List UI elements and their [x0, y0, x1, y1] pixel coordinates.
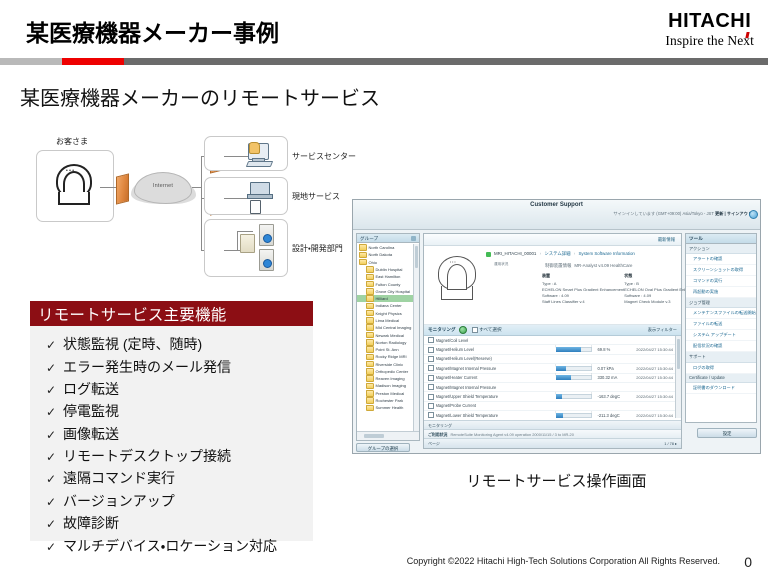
- features-list: ✓状態監視 (定時、随時) ✓エラー発生時のメール発信 ✓ログ転送 ✓停電監視 …: [30, 326, 313, 557]
- tree-item[interactable]: Summer Health: [357, 404, 419, 411]
- device-column-row: Staff Lines Classifier v.4: [542, 299, 624, 305]
- metric-name: Magnet/Magnet Internal Pressure: [436, 366, 556, 371]
- device-id-label: MRI_HITACHI_00001: [494, 251, 536, 256]
- tree-item[interactable]: Rocky Ridge MRI: [357, 353, 419, 360]
- feature-item: ✓リモートデスクトップ接続: [30, 445, 313, 467]
- metric-name: Magnet/Coil Level: [436, 338, 556, 343]
- tree-item-label: East Hamilton: [376, 274, 401, 279]
- table-row[interactable]: Magnet/Magnet Internal Pressure || 0.07 …: [424, 364, 681, 373]
- hitachi-logo: HITACHI Inspire the Next: [665, 11, 754, 49]
- server-beige-icon: [240, 234, 255, 253]
- folder-icon: [366, 295, 374, 302]
- divider-segment-red: [62, 58, 124, 65]
- metric-value: -163.7 degC: [598, 394, 621, 399]
- monitoring-scrollbar[interactable]: [675, 336, 681, 418]
- tools-menu-item[interactable]: 証明書のダウンロード: [686, 383, 756, 394]
- tree-scrollbar-thumb[interactable]: [415, 246, 419, 268]
- metric-bar: [556, 356, 592, 361]
- hitachi-wordmark: HITACHI: [665, 11, 754, 31]
- feature-item: ✓状態監視 (定時、随時): [30, 333, 313, 355]
- monitoring-status-text: RemoteSuite Monitoring Agent v4.09 opera…: [450, 432, 573, 437]
- tree-item-label: Grove City Hospital: [376, 289, 410, 294]
- checkbox-icon[interactable]: [428, 412, 434, 418]
- slide-header: 某医療機器メーカー事例 HITACHI Inspire the Next: [0, 0, 768, 58]
- folder-icon: [366, 310, 374, 317]
- device-column-row: ECHELON Smart Plus Gradient Enhancement: [542, 287, 624, 293]
- diagram-node-label-0: サービスセンター: [292, 151, 356, 162]
- group-select-button[interactable]: グループの選択: [356, 443, 410, 452]
- tools-group-title: ジョブ管理: [686, 298, 756, 308]
- check-icon: ✓: [46, 405, 63, 419]
- divider-segment-dark: [124, 58, 768, 65]
- latest-info-link[interactable]: 最新情報: [658, 237, 675, 243]
- pager-label: ページ: [428, 441, 440, 446]
- monitoring-table[interactable]: Magnet/Coil Level Magnet/Helium Level ||…: [424, 336, 681, 418]
- hitachi-tagline-text: Inspire the Next: [665, 33, 754, 48]
- tools-panel-header: ツール: [686, 234, 756, 244]
- table-row[interactable]: Magnet/Lower Shield Temperature || -211.…: [424, 411, 681, 418]
- tree-hscrollbar-thumb[interactable]: [364, 434, 384, 439]
- folder-icon: [366, 346, 374, 353]
- check-icon: ✓: [46, 517, 63, 531]
- diagram-wire-rnd-top: [237, 231, 253, 232]
- metric-timestamp: 2022/04/27 15:30:44: [636, 366, 673, 371]
- table-row[interactable]: Magnet/Coil Level: [424, 336, 681, 345]
- check-icon: ✓: [46, 338, 63, 352]
- tree-item-selected[interactable]: Hilliard: [357, 295, 419, 302]
- tree-item-label: North Dakota: [369, 252, 393, 257]
- metric-bar: ||: [556, 347, 592, 352]
- check-icon: ✓: [46, 361, 63, 375]
- feature-label: エラー発生時のメール発信: [63, 357, 231, 377]
- group-tree-panel: グループ North Carolina North Dakota Ohio Du…: [356, 233, 420, 441]
- folder-icon: [366, 375, 374, 382]
- tree-item[interactable]: Dublin Hospital: [357, 266, 419, 273]
- metric-timestamp: 2022/04/27 15:30:44: [636, 375, 673, 380]
- tree-item-label: Norton Radiology: [376, 340, 407, 345]
- device-columns: 装置 Type : A ECHELON Smart Plus Gradient …: [542, 273, 675, 305]
- metric-bar: ||: [556, 366, 592, 371]
- monitoring-scrollbar-thumb[interactable]: [677, 339, 681, 369]
- feature-label: 画像転送: [63, 424, 119, 444]
- device-column-title: 装置: [542, 273, 624, 279]
- metric-value: 69.8 %: [598, 347, 611, 352]
- feature-item: ✓故障診断: [30, 512, 313, 534]
- network-diagram: お客さま ••• Internet サービスセンター 現地サービス: [34, 136, 354, 286]
- tree-item-label: Summer Health: [376, 405, 404, 410]
- folder-icon: [366, 339, 374, 346]
- check-icon: ✓: [46, 540, 63, 554]
- metric-name: Magnet/Helium Level: [436, 347, 556, 352]
- tree-item[interactable]: Riverside Clinic: [357, 361, 419, 368]
- metric-name: Magnet/Probe Current: [436, 403, 556, 408]
- feature-item: ✓バージョンアップ: [30, 490, 313, 512]
- diagram-customer-label: お客さま: [56, 136, 88, 147]
- tree-item-label: Riverside Clinic: [376, 362, 404, 367]
- folder-icon: [366, 383, 374, 390]
- tree-item-label: Knight Physics: [376, 311, 402, 316]
- metric-bar: [556, 403, 592, 408]
- tree-item[interactable]: Fulton County: [357, 280, 419, 287]
- checkbox-icon[interactable]: [472, 327, 478, 333]
- tree-item[interactable]: Reaven Imaging: [357, 375, 419, 382]
- select-all-label: すべて選択: [479, 327, 501, 333]
- pin-icon[interactable]: [411, 236, 416, 241]
- tree-item-label: Point St. Ann: [376, 347, 399, 352]
- monitoring-status-row: ご利用状況RemoteSuite Monitoring Agent v4.09 …: [424, 429, 681, 438]
- features-panel-title: リモートサービス主要機能: [38, 303, 226, 325]
- checkbox-icon[interactable]: [428, 394, 434, 400]
- internet-cloud-label: Internet: [135, 183, 191, 189]
- tablet-icon: [250, 200, 261, 214]
- metric-value: -211.3 degC: [598, 413, 620, 418]
- tools-menu-item[interactable]: 再起動の実施: [686, 287, 756, 298]
- tree-item-label: Reaven Imaging: [376, 376, 405, 381]
- divider-segment-light: [0, 58, 62, 65]
- folder-icon: [359, 252, 367, 259]
- check-icon: ✓: [46, 472, 63, 486]
- metric-name: Magnet/Heater Current: [436, 375, 556, 380]
- tree-item[interactable]: Rochester Park: [357, 397, 419, 404]
- refresh-icon[interactable]: [459, 326, 467, 334]
- group-tree-title: グループ: [360, 236, 378, 241]
- metric-timestamp: 2022/04/27 15:30:44: [636, 394, 673, 399]
- tools-menu-item[interactable]: アラートの確認: [686, 254, 756, 265]
- tree-item-label: Dublin Hospital: [376, 267, 403, 272]
- tools-panel: ツール アクション アラートの確認 スクリーンショットの取得 コマンドの実行 再…: [685, 233, 757, 423]
- tools-menu-item[interactable]: 配信状況の確認: [686, 341, 756, 352]
- folder-icon: [366, 332, 374, 339]
- tools-settings-button[interactable]: 設定: [697, 428, 757, 438]
- app-topbar: Customer Support サインインしています (GMT+09:00) …: [353, 200, 760, 230]
- feature-label: 停電監視: [63, 401, 119, 421]
- tools-menu-item[interactable]: ファイルの転送: [686, 319, 756, 330]
- checkbox-icon[interactable]: [428, 347, 434, 353]
- pager-value[interactable]: 1 / 78 ▸: [664, 441, 677, 446]
- mri-scanner-icon: •••: [52, 164, 92, 206]
- device-detail-panel: ••• MRI_HITACHI_00001 › システム詳細 › System …: [424, 246, 681, 325]
- tools-menu-item[interactable]: ログの取得: [686, 363, 756, 374]
- tree-item[interactable]: Mid Central Imaging: [357, 324, 419, 331]
- tree-item[interactable]: Madison Imaging: [357, 382, 419, 389]
- globe-icon[interactable]: [749, 210, 758, 219]
- firewall-icon-customer: [116, 173, 129, 204]
- feature-item: ✓画像転送: [30, 423, 313, 445]
- tools-menu-item[interactable]: メンテナンスファイルの転送開始: [686, 308, 756, 319]
- feature-item: ✓エラー発生時のメール発信: [30, 355, 313, 377]
- monitoring-footer-label: モニタリング: [424, 420, 681, 429]
- diagram-node-label-2: 設計・開発部門: [292, 243, 343, 254]
- device-subtitle: 制御装置情報MR-Analyst v4.09 HealthCare: [542, 263, 632, 269]
- folder-icon: [366, 317, 374, 324]
- tree-item-label: Ohio: [369, 260, 377, 265]
- feature-label: 状態監視 (定時、随時): [63, 334, 202, 354]
- tree-item-label: Madison Imaging: [376, 383, 406, 388]
- tree-item-label: Orthopedic Center: [376, 369, 409, 374]
- folder-icon: [366, 281, 374, 288]
- feature-item: ✓遠隔コマンド実行: [30, 467, 313, 489]
- app-title: Customer Support: [353, 202, 760, 208]
- monitoring-title: モニタリング: [428, 327, 456, 333]
- tree-item[interactable]: Lima Medical: [357, 317, 419, 324]
- table-row[interactable]: Magnet/Helium Level(Reserve): [424, 355, 681, 364]
- diagram-bus: [201, 156, 202, 251]
- device-subtitle-sub: MR-Analyst v4.09 HealthCare: [574, 263, 632, 268]
- table-row[interactable]: Magnet/Probe Current: [424, 402, 681, 411]
- metric-timestamp: 2022/04/27 15:30:44: [636, 413, 673, 418]
- feature-label: リモートデスクトップ接続: [63, 446, 231, 466]
- footer-copyright: Copyright ©2022 Hitachi High-Tech Soluti…: [407, 556, 720, 566]
- folder-icon: [366, 397, 374, 404]
- metric-name: Magnet/Magnet Internal Pressure: [436, 385, 556, 390]
- monitoring-filter-label[interactable]: 表示フィルター: [648, 327, 677, 333]
- tree-item[interactable]: Preston Medical: [357, 390, 419, 397]
- feature-label: マルチデバイス・ロケーション対応: [63, 536, 277, 556]
- screenshot-caption: リモートサービス操作画面: [352, 470, 761, 491]
- check-icon: ✓: [46, 428, 63, 442]
- device-subtitle-main: 制御装置情報: [545, 263, 571, 268]
- metric-name: Magnet/Lower Shield Temperature: [436, 413, 556, 418]
- folder-icon: [359, 244, 367, 251]
- tree-item-label: Rocky Ridge MRI: [376, 354, 407, 359]
- checkbox-icon[interactable]: [428, 356, 434, 362]
- tree-item[interactable]: Norton Radiology: [357, 339, 419, 346]
- login-status-text: サインインしています (GMT+09:00) Asia/Tokyo - JST: [613, 211, 713, 216]
- check-icon: ✓: [46, 383, 63, 397]
- tree-item[interactable]: North Dakota: [357, 251, 419, 258]
- remote-service-screenshot: Customer Support サインインしています (GMT+09:00) …: [352, 199, 761, 454]
- features-panel: リモートサービス主要機能 ✓状態監視 (定時、随時) ✓エラー発生時のメール発信…: [30, 301, 313, 541]
- device-note: 運用状況: [494, 262, 536, 267]
- folder-icon: [366, 361, 374, 368]
- metric-value: 0.07 kPa: [598, 366, 614, 371]
- folder-icon: [366, 390, 374, 397]
- tree-item-label: Fulton County: [376, 282, 401, 287]
- device-column: 装置 Type : A ECHELON Smart Plus Gradient …: [542, 273, 624, 305]
- app-login-status: サインインしています (GMT+09:00) Asia/Tokyo - JST …: [613, 211, 752, 217]
- table-row[interactable]: Magnet/Heater Current || 330.32 mA 2022/…: [424, 374, 681, 383]
- feature-label: ログ転送: [63, 379, 119, 399]
- tools-group-title: サポート: [686, 352, 756, 362]
- table-row[interactable]: Magnet/Magnet Internal Pressure: [424, 383, 681, 392]
- tools-menu-item[interactable]: コマンドの実行: [686, 276, 756, 287]
- server-icon-2: [259, 249, 274, 271]
- checkbox-icon[interactable]: [428, 403, 434, 409]
- check-icon: ✓: [46, 450, 63, 464]
- diagram-wire-device: [100, 187, 116, 188]
- metric-timestamp: 2022/04/27 15:30:44: [636, 347, 673, 352]
- internet-cloud-icon: Internet: [134, 172, 192, 204]
- checkbox-icon[interactable]: [428, 337, 434, 343]
- metric-bar: ||: [556, 375, 592, 380]
- feature-label: バージョンアップ: [63, 491, 175, 511]
- metric-name: Magnet/Upper Shield Temperature: [436, 394, 556, 399]
- tree-item[interactable]: Indiana Center: [357, 302, 419, 309]
- footer-page-number: 0: [744, 554, 752, 570]
- checkbox-icon[interactable]: [428, 365, 434, 371]
- tree-item[interactable]: Orthopedic Center: [357, 368, 419, 375]
- feature-label: 遠隔コマンド実行: [63, 468, 175, 488]
- device-software-info-link[interactable]: System Software Information: [578, 251, 634, 256]
- folder-icon: [366, 368, 374, 375]
- group-tree-body[interactable]: North Carolina North Dakota Ohio Dublin …: [357, 244, 419, 431]
- table-row[interactable]: Magnet/Upper Shield Temperature || -163.…: [424, 392, 681, 401]
- device-title-row: MRI_HITACHI_00001 › システム詳細 › System Soft…: [494, 251, 677, 257]
- metric-bar: ||: [556, 394, 592, 399]
- select-all-checkbox-row[interactable]: すべて選択: [472, 327, 502, 333]
- monitoring-pager-row: ページ 1 / 78 ▸: [424, 438, 681, 448]
- folder-icon: [366, 274, 374, 281]
- table-row[interactable]: Magnet/Helium Level || 69.8 % 2022/04/27…: [424, 345, 681, 354]
- tree-item[interactable]: Newark Medical: [357, 331, 419, 338]
- tree-item-label: Indiana Center: [376, 303, 402, 308]
- tree-item[interactable]: Point St. Ann: [357, 346, 419, 353]
- tree-item-label: Rochester Park: [376, 398, 404, 403]
- section-title: 某医療機器メーカーのリモートサービス: [20, 82, 380, 111]
- folder-icon: [366, 405, 374, 412]
- tree-item[interactable]: Knight Physics: [357, 310, 419, 317]
- tree-item[interactable]: East Hamilton: [357, 273, 419, 280]
- folder-icon: [366, 288, 374, 295]
- diagram-wire-sc-pc: [224, 156, 250, 157]
- metric-bar: ||: [556, 413, 592, 418]
- folder-icon: [359, 259, 367, 266]
- feature-label: 故障診断: [63, 513, 119, 533]
- device-image-mri-icon: •••: [434, 256, 480, 304]
- field-service-box: [204, 177, 288, 215]
- hitachi-tagline: Inspire the Next: [665, 34, 754, 48]
- main-content-panel: 最新情報 ••• MRI_HITACHI_00001 › システム詳細 › Sy…: [423, 233, 682, 449]
- tools-menu-item[interactable]: システム アップデート: [686, 330, 756, 341]
- folder-icon: [366, 324, 374, 331]
- tree-item[interactable]: Grove City Hospital: [357, 288, 419, 295]
- feature-item: ✓ログ転送: [30, 378, 313, 400]
- group-tree-header: グループ: [357, 234, 419, 243]
- feature-item: ✓マルチデバイス・ロケーション対応: [30, 534, 313, 556]
- metric-bar: [556, 385, 592, 390]
- metric-bar: [556, 338, 592, 343]
- features-panel-header: リモートサービス主要機能: [30, 301, 313, 326]
- checkbox-icon[interactable]: [428, 375, 434, 381]
- tree-item-label: Mid Central Imaging: [376, 325, 412, 330]
- diagram-wire-rnd-vert: [237, 231, 238, 251]
- tools-menu-item[interactable]: スクリーンショットの取得: [686, 265, 756, 276]
- tree-vertical-scrollbar[interactable]: [413, 244, 419, 431]
- metric-value: 330.32 mA: [598, 375, 618, 380]
- diagram-node-label-1: 現地サービス: [292, 191, 340, 202]
- checkbox-icon[interactable]: [428, 384, 434, 390]
- tree-item[interactable]: North Carolina: [357, 244, 419, 251]
- page-title: 某医療機器メーカー事例: [26, 14, 279, 48]
- device-status-indicator: [486, 252, 491, 257]
- diagram-wire-rnd-main: [224, 250, 238, 251]
- tree-item-label: North Carolina: [369, 245, 395, 250]
- tree-item[interactable]: Ohio: [357, 259, 419, 266]
- login-links[interactable]: 更新 | サインアウト: [715, 211, 752, 216]
- tree-item-label: Lima Medical: [376, 318, 400, 323]
- server-icon-1: [259, 224, 274, 246]
- folder-icon: [366, 303, 374, 310]
- tree-item-label: Preston Medical: [376, 391, 405, 396]
- main-infobar: 最新情報: [424, 234, 681, 246]
- tools-group-title: Certificate / Update: [686, 374, 756, 383]
- check-icon: ✓: [46, 495, 63, 509]
- tree-item-label: Newark Medical: [376, 333, 404, 338]
- tree-horizontal-scrollbar[interactable]: [357, 431, 419, 440]
- tools-group-title: アクション: [686, 244, 756, 254]
- feature-item: ✓停電監視: [30, 400, 313, 422]
- metric-name: Magnet/Helium Level(Reserve): [436, 356, 556, 361]
- header-divider-bar: [0, 58, 768, 65]
- device-system-detail-link[interactable]: システム詳細: [544, 251, 570, 256]
- tree-item-label: Hilliard: [376, 296, 388, 301]
- folder-icon: [366, 354, 374, 361]
- folder-icon: [366, 266, 374, 273]
- monitoring-header: モニタリング すべて選択 表示フィルター: [424, 325, 681, 336]
- monitoring-status-title: ご利用状況: [428, 432, 447, 437]
